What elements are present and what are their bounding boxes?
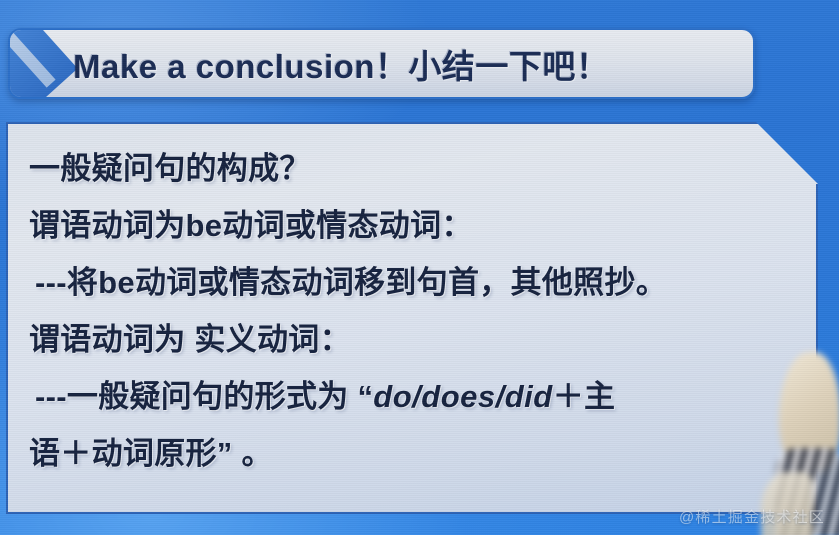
- watermark-text: @稀土掘金技术社区: [679, 506, 825, 527]
- content-line-notional-detail-1: ---一般疑问句的形式为 “do/does/did＋主: [29, 368, 808, 425]
- content-text-block: 一般疑问句的构成？ 谓语动词为be动词或情态动词： ---将be动词或情态动词移…: [29, 140, 808, 482]
- presentation-slide: Make a conclusion！小结一下吧！ 一般疑问句的构成？ 谓语动词为…: [0, 0, 839, 535]
- banner-title-text: Make a conclusion！小结一下吧！: [73, 40, 609, 88]
- panel-notch-edge: [754, 59, 822, 127]
- content-line-notional-detail-2: 语＋动词原形” 。: [29, 425, 808, 482]
- title-banner: Make a conclusion！小结一下吧！: [8, 28, 755, 99]
- content-panel: 一般疑问句的构成？ 谓语动词为be动词或情态动词： ---将be动词或情态动词移…: [6, 122, 818, 514]
- content-line-be-modal-heading: 谓语动词为be动词或情态动词：: [29, 197, 808, 254]
- content-line-question: 一般疑问句的构成？: [29, 140, 808, 197]
- content-line-be-modal-detail: ---将be动词或情态动词移到句首，其他照抄。: [29, 254, 808, 311]
- panel-right-edge: [816, 184, 818, 512]
- content-line-notional-heading: 谓语动词为 实义动词：: [29, 311, 808, 368]
